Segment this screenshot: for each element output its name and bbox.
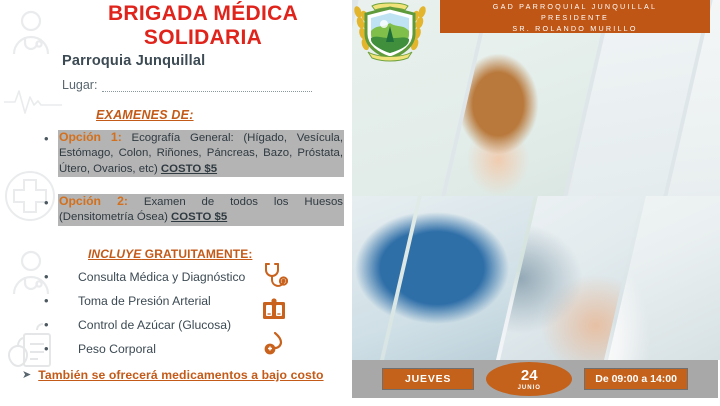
gad-banner: GAD PARROQUIAL JUNQUILLAL PRESIDENTE SR.… <box>440 0 710 33</box>
subtitle-parish: Parroquia Junquillal <box>62 53 205 69</box>
list-item-label: Peso Corporal <box>78 342 156 356</box>
medication-note: ➤ También se ofrecerá medicamentos a baj… <box>22 368 324 382</box>
date-badge: 24 JUNIO <box>486 362 572 396</box>
lugar-field: Lugar: <box>62 78 312 92</box>
photo-collage-lower <box>352 196 720 360</box>
includes-heading-emphasis: INCLUYE <box>88 247 141 261</box>
exam-option-cost: COSTO $5 <box>171 211 227 223</box>
headline-line-1: BRIGADA MÉDICA <box>88 2 318 26</box>
list-item-label: Consulta Médica y Diagnóstico <box>78 270 245 284</box>
exam-option-text: Opción 2: Examen de todos los Huesos (De… <box>58 194 344 226</box>
exam-option-label: Opción 1: <box>59 130 122 144</box>
list-item: • Consulta Médica y Diagnóstico <box>44 270 245 284</box>
exam-option-label: Opción 2: <box>59 194 128 208</box>
gad-banner-line-3: SR. ROLANDO MURILLO <box>440 23 710 34</box>
includes-heading: INCLUYE GRATUITAMENTE: <box>88 247 252 261</box>
list-item-label: Toma de Presión Arterial <box>78 294 211 308</box>
page-title: BRIGADA MÉDICA SOLIDARIA <box>88 2 318 50</box>
glucose-meter-icon <box>262 330 288 361</box>
date-number: 24 <box>521 368 538 383</box>
lugar-label: Lugar: <box>62 78 97 92</box>
status-badge-day: JUEVES <box>382 368 474 390</box>
coat-of-arms-emblem <box>344 0 436 64</box>
status-badge-time: De 09:00 a 14:00 <box>584 368 688 390</box>
list-item: • Peso Corporal <box>44 342 156 356</box>
bullet-icon: • <box>44 270 58 284</box>
lugar-blank-line[interactable] <box>102 82 312 92</box>
date-month: JUNIO <box>518 385 541 391</box>
gad-banner-line-2: PRESIDENTE <box>440 12 710 23</box>
bullet-icon: • <box>44 318 58 332</box>
list-item: • Toma de Presión Arterial <box>44 294 211 308</box>
bullet-icon: • <box>44 294 58 308</box>
exam-option-text: Opción 1: Ecografía General: (Hígado, Ve… <box>58 130 344 177</box>
exam-option-row: • Opción 1: Ecografía General: (Hígado, … <box>44 130 344 177</box>
bullet-icon: • <box>44 342 58 356</box>
arrow-bullet-icon: ➤ <box>22 370 31 381</box>
exam-option-cost: COSTO $5 <box>161 163 217 175</box>
schedule-bar: JUEVES 24 JUNIO De 09:00 a 14:00 <box>352 360 718 398</box>
exam-option-row: • Opción 2: Examen de todos los Huesos (… <box>44 194 344 226</box>
bullet-icon: • <box>44 194 58 210</box>
list-item: • Control de Azúcar (Glucosa) <box>44 318 231 332</box>
includes-heading-rest: GRATUITAMENTE: <box>141 247 252 261</box>
footer-strip <box>0 398 720 406</box>
bullet-icon: • <box>44 130 58 146</box>
exams-heading: EXAMENES DE: <box>96 108 194 122</box>
stethoscope-icon <box>262 262 288 295</box>
blood-pressure-monitor-icon <box>262 298 286 327</box>
list-item-label: Control de Azúcar (Glucosa) <box>78 318 231 332</box>
info-panel: BRIGADA MÉDICA SOLIDARIA Parroquia Junqu… <box>0 0 356 398</box>
headline-line-2: SOLIDARIA <box>88 26 318 50</box>
gad-banner-line-1: GAD PARROQUIAL JUNQUILLAL <box>440 1 710 12</box>
poster-flyer: BRIGADA MÉDICA SOLIDARIA Parroquia Junqu… <box>0 0 720 406</box>
medication-note-label: También se ofrecerá medicamentos a bajo … <box>38 368 323 382</box>
